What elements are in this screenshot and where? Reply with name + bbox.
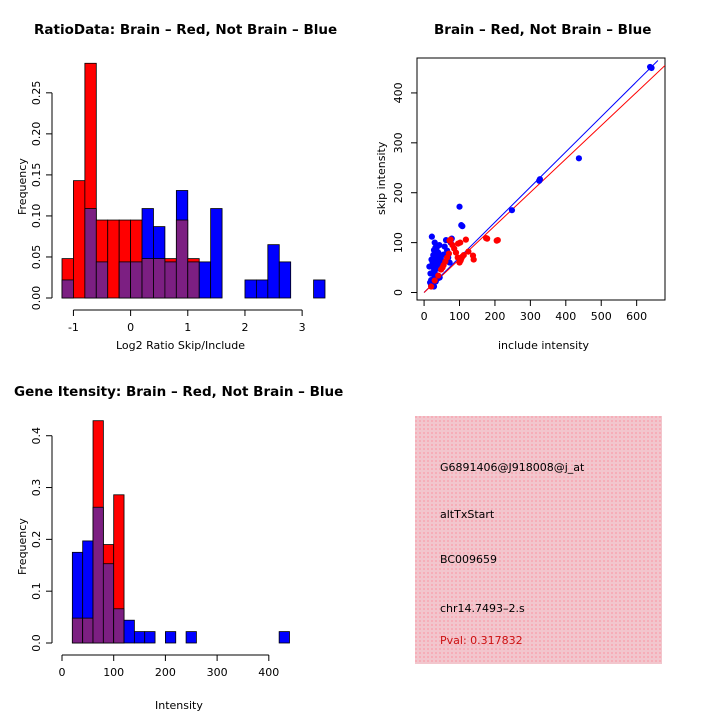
y-tick-label: 0.0 (30, 634, 43, 652)
x-tick-label: 500 (591, 310, 612, 323)
histogram-bar (108, 220, 119, 298)
histogram-bar-overlap (85, 209, 96, 298)
x-tick-label: 100 (103, 666, 124, 679)
scatter-point (537, 176, 543, 182)
histogram-bar (145, 632, 155, 643)
x-tick-label: 0 (127, 321, 134, 334)
histogram-bar (256, 280, 267, 298)
y-tick-label: 0.1 (30, 582, 43, 600)
panel-gene-histogram: Gene Itensity: Brain – Red, Not Brain – … (0, 360, 360, 720)
y-tick-label: 0.3 (30, 479, 43, 497)
y-tick-label: 0.25 (30, 81, 43, 106)
x-tick-label: 0 (421, 310, 428, 323)
panel-ratio-histogram: RatioData: Brain – Red, Not Brain – Blue… (0, 0, 360, 360)
histogram-bar (165, 632, 175, 643)
x-tick-label: 600 (626, 310, 647, 323)
scatter-point (446, 250, 452, 256)
y-tick-label: 0.15 (30, 163, 43, 188)
histogram-bar (279, 262, 290, 298)
scatter-point (435, 272, 441, 278)
histogram-bar (245, 280, 256, 298)
x-tick-label: 0 (59, 666, 66, 679)
scatter-point (428, 283, 434, 289)
scatter-point (495, 237, 501, 243)
x-tick-label: 400 (258, 666, 279, 679)
x-tick-label: 100 (449, 310, 470, 323)
histogram-bar (211, 209, 222, 298)
scatter-point (456, 204, 462, 210)
pval-text: Pval: 0.317832 (440, 634, 523, 647)
histogram-bar-overlap (176, 220, 187, 298)
scatter-data-group (424, 60, 665, 292)
scatter-plot: 01002003004000100200300400500600 (360, 0, 720, 360)
x-tick-label: 1 (184, 321, 191, 334)
scatter-point (432, 240, 438, 246)
scatter-point (429, 234, 435, 240)
x-tick-label: 300 (207, 666, 228, 679)
probe-id-text: G6891406@J918008@j_at (440, 461, 584, 474)
scatter-point (459, 223, 465, 229)
histogram-bar (73, 181, 84, 298)
ratio-histogram-plot: 0.000.050.100.150.200.25-10123 (0, 0, 360, 360)
histogram-bar-overlap (83, 618, 93, 643)
y-tick-label: 300 (392, 132, 405, 153)
histogram-bar (186, 632, 196, 643)
y-tick-label: 400 (392, 82, 405, 103)
y-tick-label: 200 (392, 182, 405, 203)
scatter-point (433, 246, 439, 252)
histogram-bar (124, 620, 134, 643)
scatter-point (439, 264, 445, 270)
histogram-bar-overlap (142, 259, 153, 298)
gene-histogram-plot: 0.00.10.20.30.40100200300400 (0, 360, 360, 720)
x-tick-label: 2 (241, 321, 248, 334)
panel-intensity-scatter: Brain – Red, Not Brain – Blue skip inten… (360, 0, 720, 360)
scatter-point (427, 270, 433, 276)
scatter-point (471, 256, 477, 262)
scatter-point (576, 155, 582, 161)
histogram-bar-overlap (165, 262, 176, 298)
scatter-point (484, 236, 490, 242)
plot-canvas: RatioData: Brain – Red, Not Brain – Blue… (0, 0, 720, 720)
histogram-bar-overlap (153, 259, 164, 298)
histogram-bar-overlap (93, 507, 103, 643)
event-type-text: altTxStart (440, 508, 494, 521)
scatter-point (463, 237, 469, 243)
y-tick-label: 0.4 (30, 427, 43, 445)
histogram-bar-overlap (114, 609, 124, 643)
y-tick-label: 0.05 (30, 245, 43, 270)
histogram-bar (279, 632, 289, 643)
histogram-bar (199, 262, 210, 298)
x-tick-label: 200 (155, 666, 176, 679)
x-tick-label: -1 (68, 321, 79, 334)
histogram-bar-overlap (62, 280, 73, 298)
scatter-point (648, 65, 654, 71)
y-tick-label: 0.20 (30, 122, 43, 147)
histogram-bar (134, 632, 144, 643)
scatter-point (457, 240, 463, 246)
x-tick-label: 3 (299, 321, 306, 334)
scatter-point (509, 207, 515, 213)
y-tick-label: 0.2 (30, 531, 43, 549)
accession-text: BC009659 (440, 553, 497, 566)
y-tick-label: 0.00 (30, 286, 43, 311)
histogram-bar-overlap (96, 262, 107, 298)
scatter-point (448, 237, 454, 243)
histogram-bar-overlap (188, 262, 199, 298)
y-tick-label: 100 (392, 232, 405, 253)
locus-text: chr14.7493–2.s (440, 602, 525, 615)
histogram-bar-overlap (103, 564, 113, 643)
panel-probe-info: G6891406@J918008@j_at altTxStart BC00965… (415, 416, 662, 664)
y-tick-label: 0 (392, 289, 405, 296)
histogram-bar (314, 280, 325, 298)
histogram-bar (268, 245, 279, 298)
histogram-bar-overlap (131, 262, 142, 298)
scatter-point (430, 264, 436, 270)
x-tick-label: 200 (484, 310, 505, 323)
y-tick-label: 0.10 (30, 204, 43, 229)
histogram-bar-overlap (119, 262, 130, 298)
scatter-point (428, 256, 434, 262)
scatter-point (432, 277, 438, 283)
x-tick-label: 400 (555, 310, 576, 323)
histogram-bar-overlap (72, 618, 82, 643)
x-tick-label: 300 (520, 310, 541, 323)
